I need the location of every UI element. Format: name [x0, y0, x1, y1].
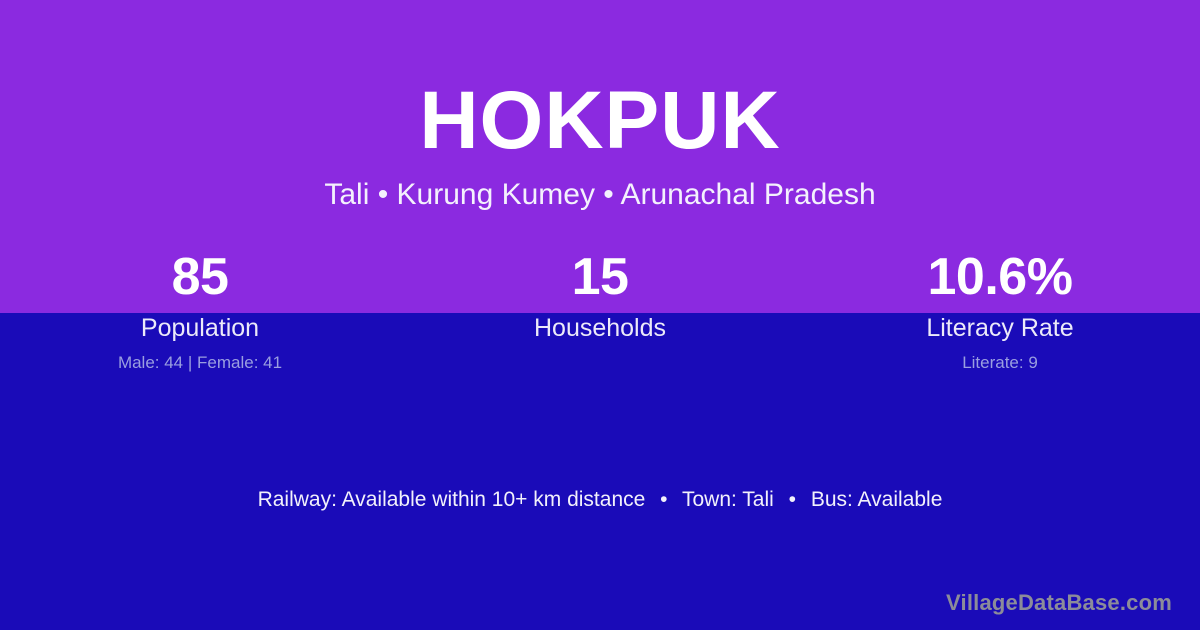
- stat-label-literacy-rate: Literacy Rate: [800, 314, 1200, 342]
- card-header: HOKPUK Tali • Kurung Kumey • Arunachal P…: [0, 0, 1200, 212]
- stat-households: 15 Households: [400, 248, 800, 373]
- info-town: Town: Tali: [682, 488, 774, 511]
- breadcrumb: Tali • Kurung Kumey • Arunachal Pradesh: [0, 164, 1200, 212]
- stat-sub-population: Male: 44 | Female: 41: [0, 353, 400, 373]
- stats-row: 85 Population Male: 44 | Female: 41 15 H…: [0, 248, 1200, 373]
- info-separator-1: •: [651, 486, 676, 514]
- stat-sub-households: [400, 353, 800, 373]
- site-watermark: VillageDataBase.com: [946, 590, 1172, 616]
- info-railway: Railway: Available within 10+ km distanc…: [258, 488, 646, 511]
- village-info-card: HOKPUK Tali • Kurung Kumey • Arunachal P…: [0, 0, 1200, 630]
- stat-population: 85 Population Male: 44 | Female: 41: [0, 248, 400, 373]
- stat-literacy-rate: 10.6% Literacy Rate Literate: 9: [800, 248, 1200, 373]
- stat-value-population: 85: [0, 248, 400, 306]
- stat-value-households: 15: [400, 248, 800, 306]
- info-separator-2: •: [780, 486, 805, 514]
- connectivity-info-line: Railway: Available within 10+ km distanc…: [0, 486, 1200, 514]
- stat-label-households: Households: [400, 314, 800, 342]
- stat-label-population: Population: [0, 314, 400, 342]
- stat-sub-literacy-rate: Literate: 9: [800, 353, 1200, 373]
- stat-value-literacy-rate: 10.6%: [800, 248, 1200, 306]
- page-title: HOKPUK: [0, 0, 1200, 164]
- info-bus: Bus: Available: [811, 488, 943, 511]
